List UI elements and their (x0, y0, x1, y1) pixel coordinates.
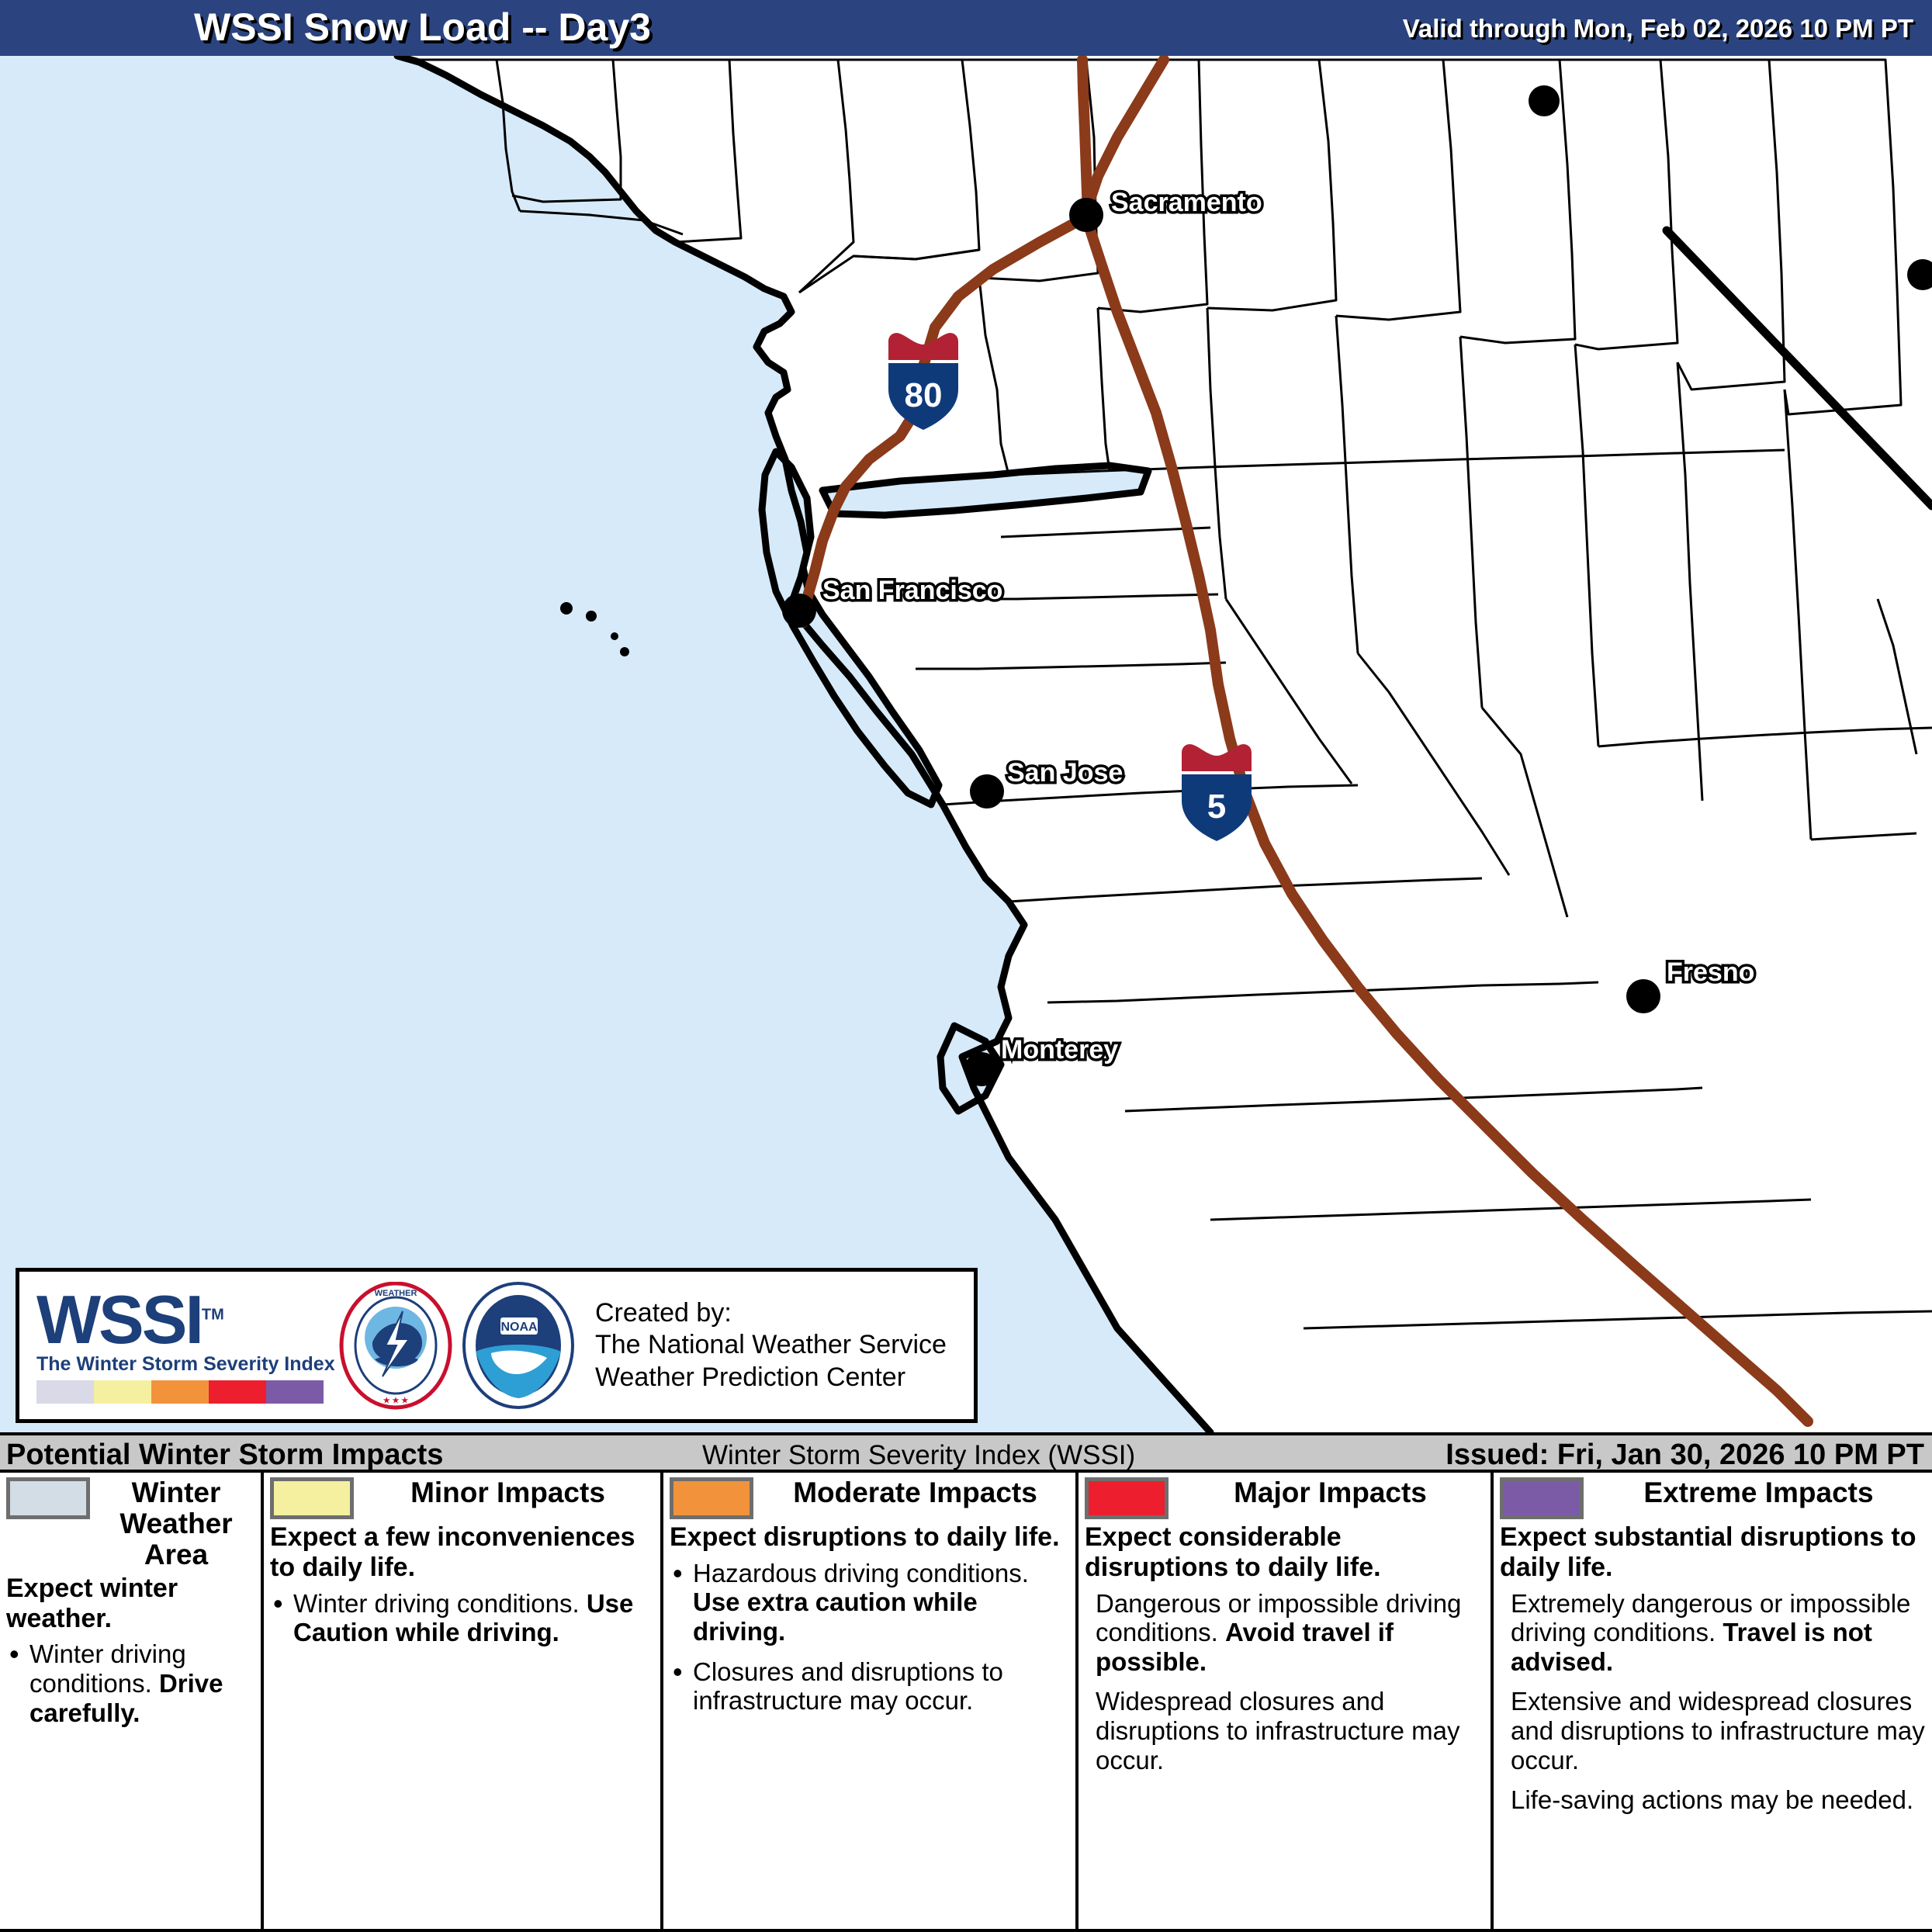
created-by-line-2: Weather Prediction Center (595, 1362, 947, 1394)
svg-text:5: 5 (1207, 788, 1226, 826)
legend-column-extreme-impacts: Extreme Impacts Expect substantial disru… (1494, 1473, 1932, 1929)
legend-header: Major Impacts (1085, 1477, 1484, 1519)
legend-header: Minor Impacts (270, 1477, 654, 1519)
list-item: Widespread closures and disruptions to i… (1085, 1687, 1484, 1774)
wssi-snow-load-map-page: WSSI Snow Load -- Day3 Valid through Mon… (0, 0, 1932, 1932)
wssi-color-bar (36, 1380, 324, 1404)
legend-header: Extreme Impacts (1500, 1477, 1926, 1519)
legend-column-winter-weather-area: Winter Weather Area Expect winter weathe… (0, 1473, 264, 1929)
svg-text:NOAA: NOAA (500, 1321, 538, 1334)
list-item: Extensive and widespread closures and di… (1500, 1687, 1926, 1774)
legend-header: Moderate Impacts (670, 1477, 1069, 1519)
city-label-san-jose: San Jose (1007, 758, 1123, 788)
legend-summary-major-impacts: Expect considerable disruptions to daily… (1085, 1522, 1484, 1583)
bullet-text: Hazardous driving conditions. (693, 1559, 1029, 1587)
swatch-major-impacts (1085, 1477, 1169, 1519)
legend-column-minor-impacts: Minor Impacts Expect a few inconvenience… (264, 1473, 663, 1929)
wssi-tagline: The Winter Storm Severity Index (36, 1353, 330, 1376)
wssi-wordmark: WSSITM (36, 1287, 330, 1352)
legend-bullets-extreme-impacts: Extremely dangerous or impossible drivin… (1500, 1589, 1926, 1815)
map-canvas[interactable]: 80 5 Sacramento San Francisco San Jose F… (0, 56, 1932, 1432)
color-bar-winter (36, 1380, 94, 1404)
city-label-monterey: Monterey (1001, 1035, 1118, 1065)
map-svg: 80 5 Sacramento San Francisco San Jose F… (0, 56, 1932, 1432)
valid-through-text: Valid through Mon, Feb 02, 2026 10 PM PT (1403, 14, 1913, 43)
list-item: Hazardous driving conditions. Use extra … (670, 1559, 1069, 1646)
trademark-symbol: TM (202, 1306, 224, 1323)
city-dot-san-francisco (782, 594, 816, 628)
page-title: WSSI Snow Load -- Day3 (194, 5, 651, 50)
status-right-text: Issued: Fri, Jan 30, 2026 10 PM PT (1446, 1439, 1924, 1472)
swatch-winter-weather-area (6, 1477, 90, 1519)
created-by-line-0: Created by: (595, 1297, 947, 1329)
svg-text:WEATHER: WEATHER (375, 1289, 417, 1298)
status-middle-text: Winter Storm Severity Index (WSSI) (702, 1440, 1135, 1471)
swatch-minor-impacts (270, 1477, 354, 1519)
list-item: Winter driving conditions. Use Caution w… (270, 1589, 654, 1647)
legend-title-major-impacts: Major Impacts (1176, 1477, 1484, 1508)
wssi-wordmark-block: WSSITM The Winter Storm Severity Index (19, 1287, 330, 1404)
bullet-text: Widespread closures and disruptions to i… (1096, 1687, 1460, 1774)
color-bar-minor (94, 1380, 151, 1404)
status-bar: Potential Winter Storm Impacts Winter St… (0, 1432, 1932, 1473)
list-item: Life-saving actions may be needed. (1500, 1785, 1926, 1815)
city-dot-unlabeled-north (1529, 85, 1560, 116)
legend-summary-winter-weather-area: Expect winter weather. (6, 1574, 254, 1634)
bullet-text: Life-saving actions may be needed. (1511, 1785, 1913, 1814)
svg-text:80: 80 (905, 376, 943, 414)
legend-title-extreme-impacts: Extreme Impacts (1591, 1477, 1926, 1508)
list-item: Closures and disruptions to infrastructu… (670, 1657, 1069, 1716)
impact-legend: Winter Weather Area Expect winter weathe… (0, 1473, 1932, 1932)
legend-summary-extreme-impacts: Expect substantial disruptions to daily … (1500, 1522, 1926, 1583)
bullet-text: Winter driving conditions. (293, 1589, 587, 1618)
svg-text:★ ★ ★: ★ ★ ★ (383, 1397, 408, 1405)
city-dot-sacramento (1069, 198, 1103, 232)
legend-bullets-moderate-impacts: Hazardous driving conditions. Use extra … (670, 1559, 1069, 1716)
bullet-text: Closures and disruptions to infrastructu… (693, 1657, 1003, 1716)
city-label-san-francisco: San Francisco (822, 576, 1002, 605)
bullet-bold-text: Use extra caution while driving. (693, 1587, 978, 1646)
header-bar: WSSI Snow Load -- Day3 Valid through Mon… (0, 0, 1932, 56)
legend-title-moderate-impacts: Moderate Impacts (761, 1477, 1069, 1508)
color-bar-extreme (266, 1380, 324, 1404)
list-item: Dangerous or impossible driving conditio… (1085, 1589, 1484, 1677)
legend-bullets-minor-impacts: Winter driving conditions. Use Caution w… (270, 1589, 654, 1647)
legend-title-minor-impacts: Minor Impacts (362, 1477, 654, 1508)
legend-summary-minor-impacts: Expect a few inconveniences to daily lif… (270, 1522, 654, 1583)
swatch-moderate-impacts (670, 1477, 753, 1519)
national-weather-service-seal: WEATHER ★ ★ ★ (338, 1282, 454, 1410)
legend-header: Winter Weather Area (6, 1477, 254, 1570)
wssi-logo-box: WSSITM The Winter Storm Severity Index W… (16, 1268, 978, 1423)
legend-summary-moderate-impacts: Expect disruptions to daily life. (670, 1522, 1069, 1553)
created-by-line-1: The National Weather Service (595, 1329, 947, 1361)
city-label-fresno: Fresno (1667, 957, 1754, 987)
color-bar-moderate (151, 1380, 209, 1404)
city-dot-monterey (964, 1052, 999, 1086)
color-bar-major (209, 1380, 266, 1404)
legend-bullets-major-impacts: Dangerous or impossible driving conditio… (1085, 1589, 1484, 1775)
city-label-sacramento: Sacramento (1111, 188, 1262, 217)
status-left-text: Potential Winter Storm Impacts (6, 1439, 443, 1472)
noaa-seal: NOAA (460, 1282, 576, 1410)
legend-column-major-impacts: Major Impacts Expect considerable disrup… (1079, 1473, 1494, 1929)
legend-title-winter-weather-area: Winter Weather Area (98, 1477, 254, 1570)
created-by-block: Created by: The National Weather Service… (584, 1297, 947, 1394)
list-item: Extremely dangerous or impossible drivin… (1500, 1589, 1926, 1677)
bullet-text: Extensive and widespread closures and di… (1511, 1687, 1925, 1774)
route-north (1082, 60, 1088, 215)
city-dot-fresno (1626, 979, 1660, 1013)
list-item: Winter driving conditions. Drive careful… (6, 1639, 254, 1727)
agency-seals: WEATHER ★ ★ ★ NOAA (330, 1282, 584, 1410)
city-dot-san-jose (970, 774, 1004, 808)
legend-column-moderate-impacts: Moderate Impacts Expect disruptions to d… (663, 1473, 1079, 1929)
legend-bullets-winter-weather-area: Winter driving conditions. Drive careful… (6, 1639, 254, 1727)
swatch-extreme-impacts (1500, 1477, 1584, 1519)
